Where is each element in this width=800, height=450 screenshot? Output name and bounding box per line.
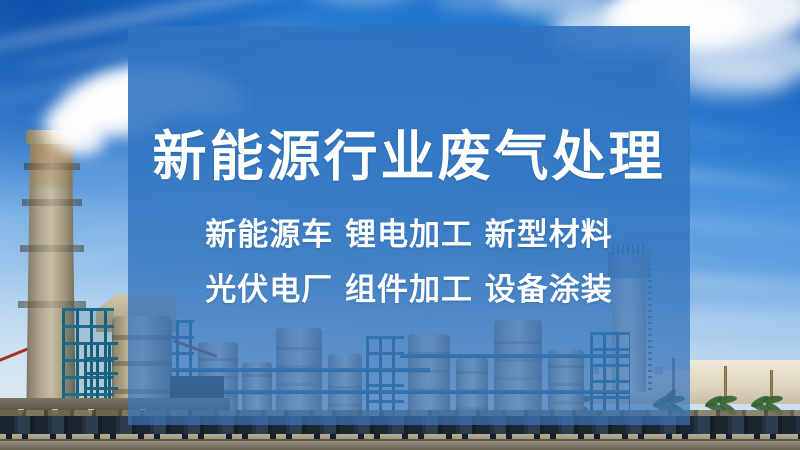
promo-banner: 新能源行业废气处理 新能源车 锂电加工 新型材料 光伏电厂 组件加工 设备涂装 (0, 0, 800, 450)
banner-headline: 新能源行业废气处理 (153, 130, 666, 184)
low-building-right (690, 360, 800, 404)
banner-text-block: 新能源行业废气处理 新能源车 锂电加工 新型材料 光伏电厂 组件加工 设备涂装 (128, 26, 690, 425)
banner-subtitle-line-1: 新能源车 锂电加工 新型材料 (205, 220, 613, 251)
banner-subtitle-line-2: 光伏电厂 组件加工 设备涂装 (205, 275, 613, 306)
rail-track-line (0, 439, 800, 441)
